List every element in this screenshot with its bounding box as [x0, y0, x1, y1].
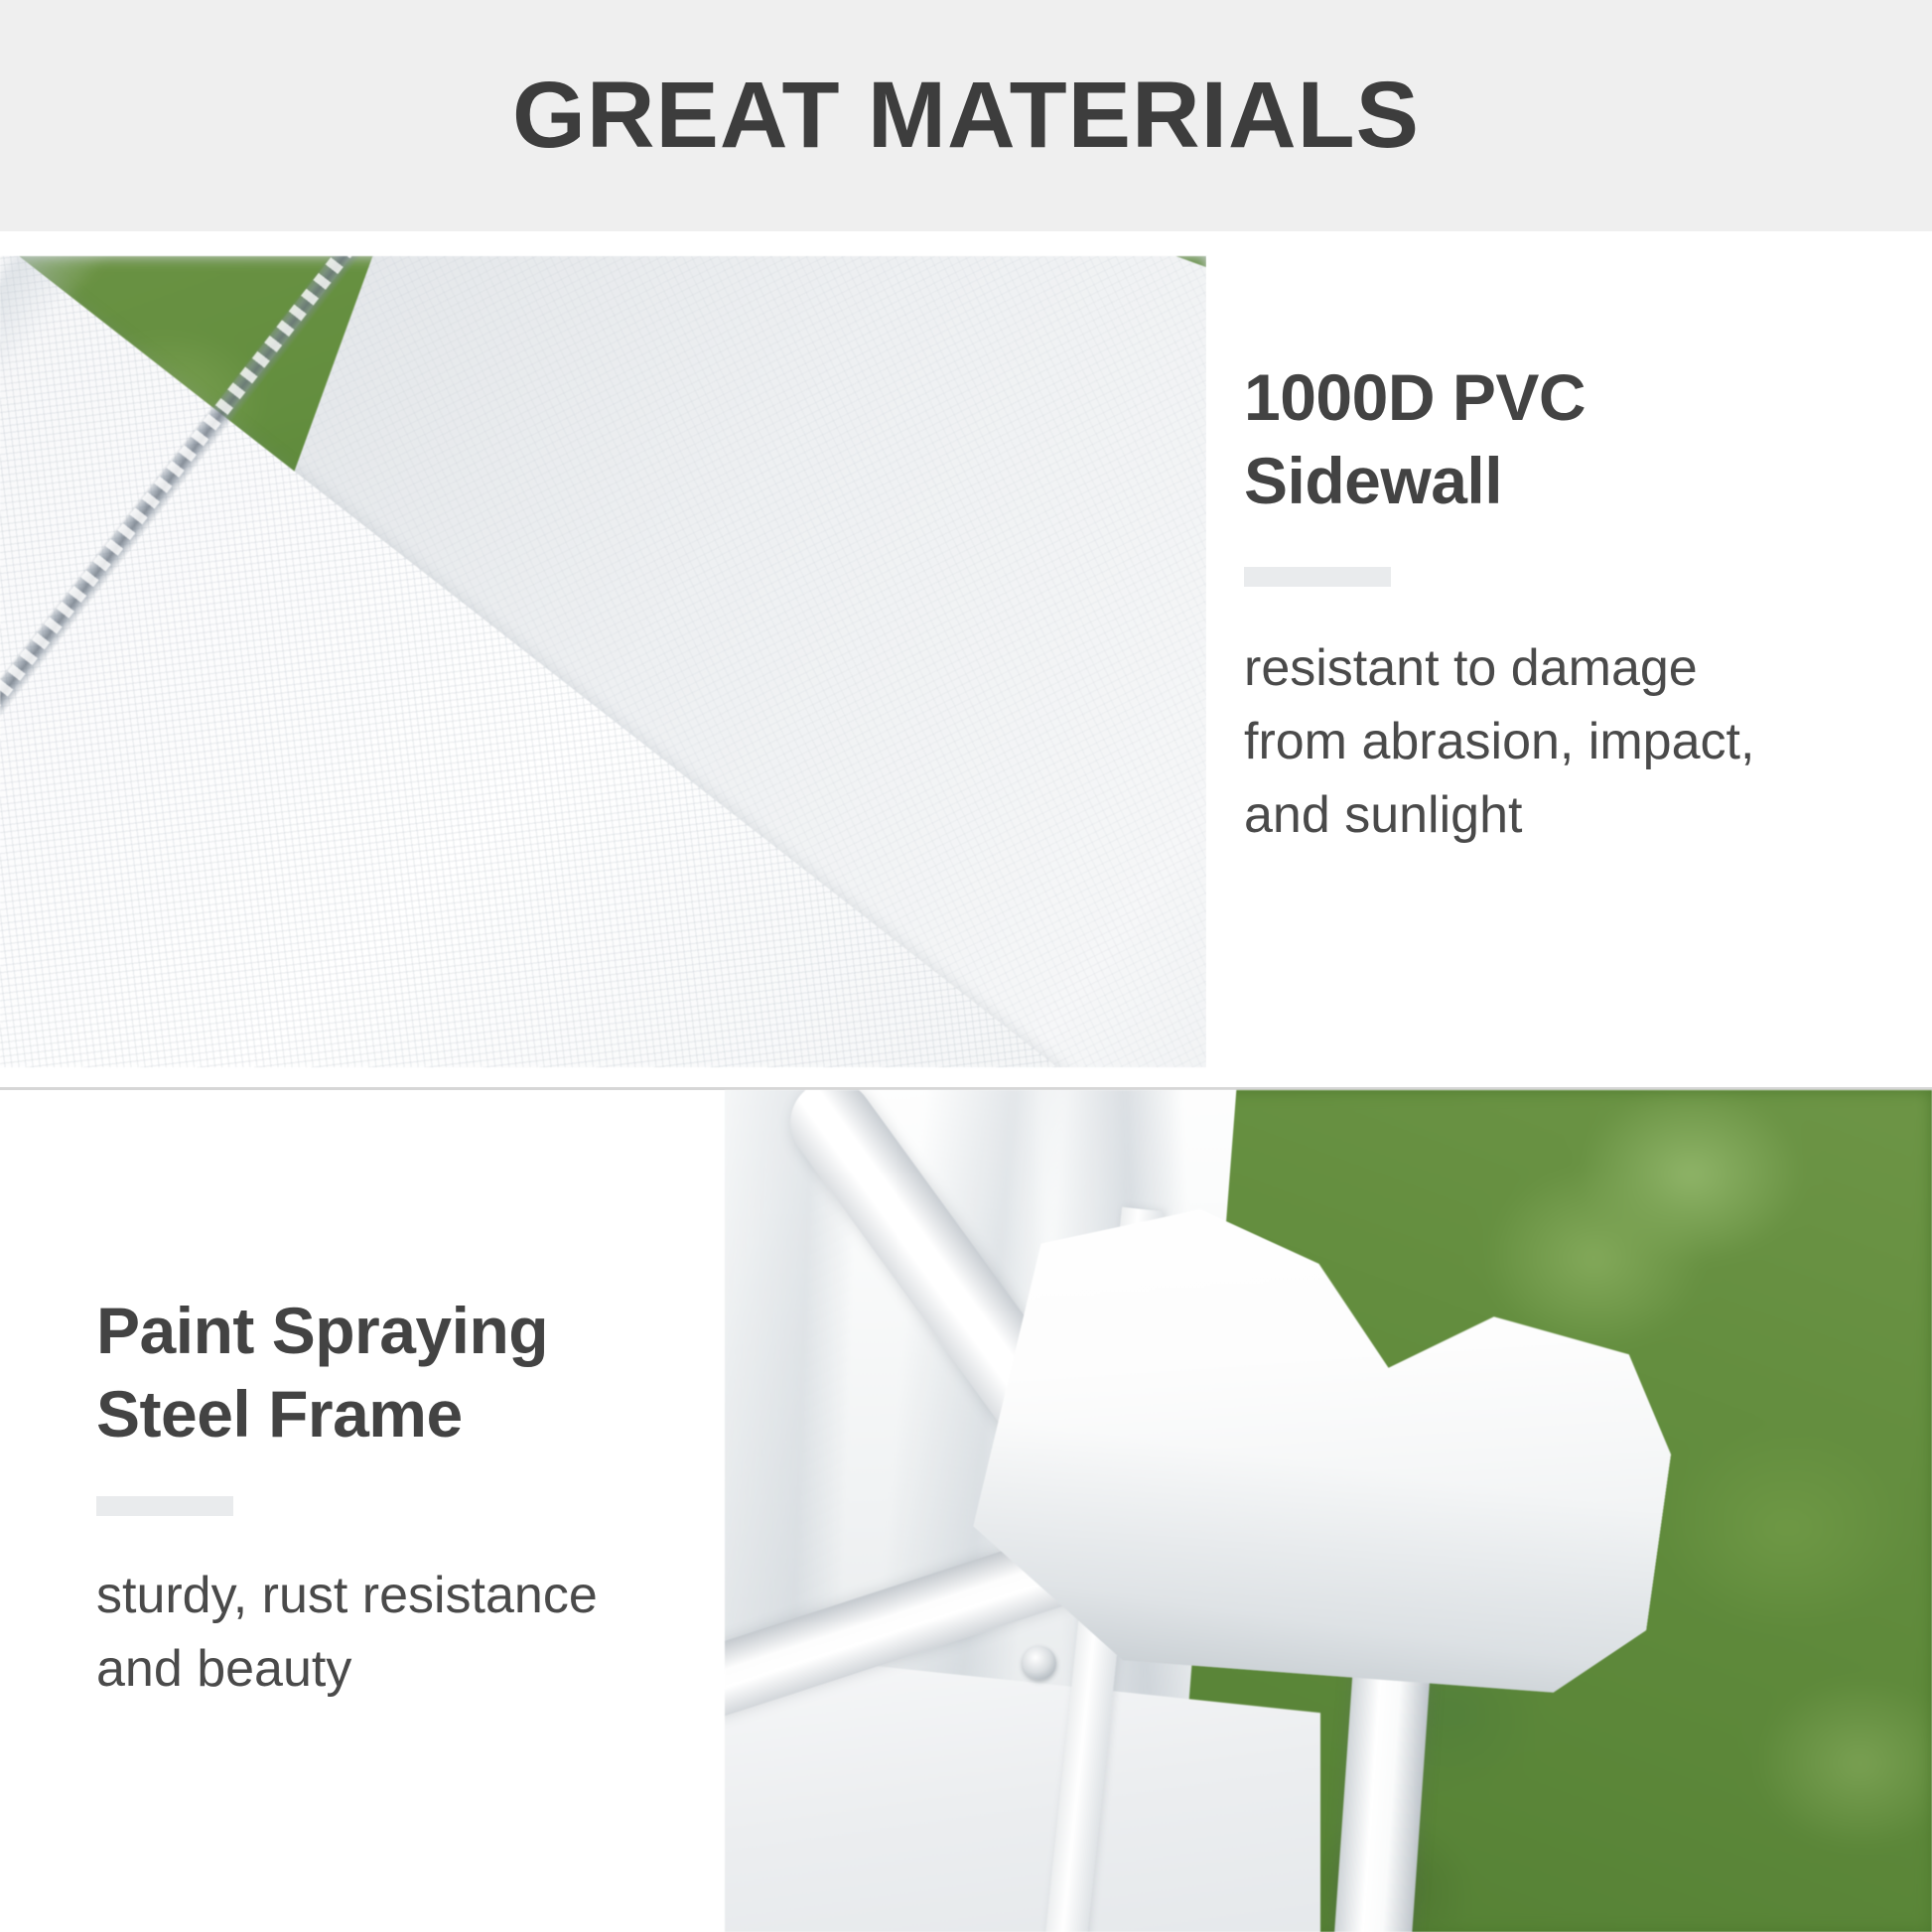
- steel-frame-corner-photo: [725, 1090, 1932, 1932]
- feature-body: sturdy, rust resistance and beauty: [96, 1560, 685, 1707]
- header-band: GREAT MATERIALS: [0, 0, 1932, 231]
- feature-text-steel-frame: Paint Spraying Steel Frame sturdy, rust …: [0, 1090, 725, 1932]
- feature-divider-rule: [96, 1496, 233, 1516]
- feature-title: 1000D PVC Sidewall: [1244, 355, 1882, 523]
- page-title: GREAT MATERIALS: [512, 69, 1420, 163]
- feature-title: Paint Spraying Steel Frame: [96, 1289, 685, 1456]
- feature-text-pvc-sidewall: 1000D PVC Sidewall resistant to damage f…: [1206, 256, 1932, 1067]
- pvc-fabric-seam-photo: [0, 256, 1206, 1067]
- feature-body: resistant to damage from abrasion, impac…: [1244, 632, 1882, 852]
- feature-divider-rule: [1244, 567, 1391, 587]
- feature-section-pvc-sidewall: 1000D PVC Sidewall resistant to damage f…: [0, 256, 1932, 1067]
- feature-section-steel-frame: Paint Spraying Steel Frame sturdy, rust …: [0, 1090, 1932, 1932]
- product-feature-page: GREAT MATERIALS 1000D PVC Sidewall resis…: [0, 0, 1932, 1932]
- bracket-screw: [1023, 1646, 1056, 1680]
